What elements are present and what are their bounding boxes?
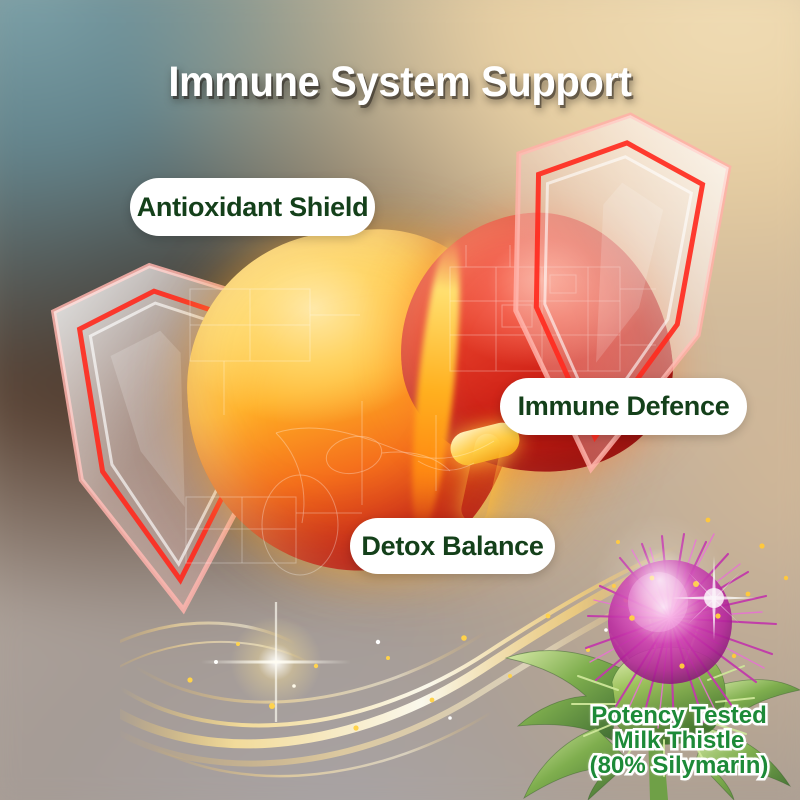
badge-detox-balance-label: Detox Balance bbox=[361, 531, 543, 562]
badge-immune-defence[interactable]: Immune Defence bbox=[500, 378, 747, 435]
badge-immune-defence-label: Immune Defence bbox=[518, 391, 730, 422]
milk-thistle-caption-line1: Potency Tested bbox=[572, 704, 786, 729]
thistle-sparkle-glow bbox=[560, 480, 760, 680]
page-title: Immune System Support bbox=[28, 58, 772, 107]
milk-thistle-caption-line3: (80% Silymarin) bbox=[572, 754, 786, 779]
light-star-burst bbox=[211, 597, 341, 727]
badge-detox-balance[interactable]: Detox Balance bbox=[350, 518, 555, 574]
poster-canvas: Immune System Support Antioxidant Shield… bbox=[0, 0, 800, 800]
milk-thistle-caption-line2: Milk Thistle bbox=[572, 729, 786, 754]
milk-thistle-caption: Potency Tested Milk Thistle (80% Silymar… bbox=[572, 704, 786, 779]
badge-antioxidant-shield[interactable]: Antioxidant Shield bbox=[130, 178, 375, 236]
badge-antioxidant-shield-label: Antioxidant Shield bbox=[137, 192, 369, 223]
